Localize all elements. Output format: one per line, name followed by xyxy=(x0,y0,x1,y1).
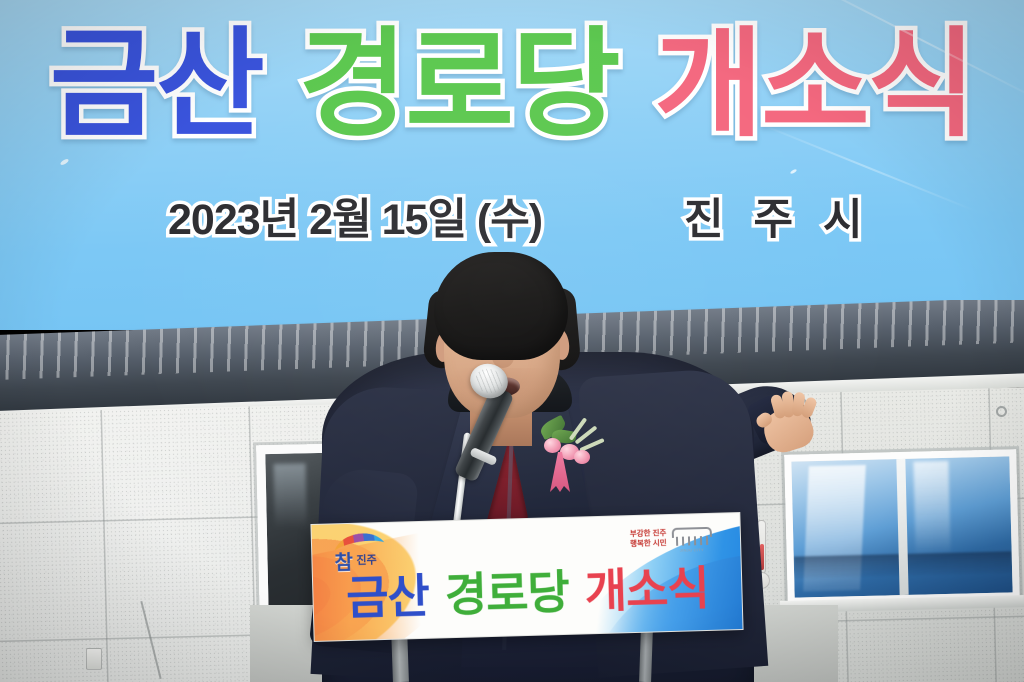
podium-stem xyxy=(639,628,653,682)
event-photo-scene: 금산 경로당 개소식 2023년 2월 15일 (수) 진 주 시 xyxy=(0,0,1024,682)
podium-title-word-2: 경로당 xyxy=(444,569,569,618)
emblem-slogan: 부강한 진주 행복한 시민 xyxy=(630,528,667,549)
emblem-caption: JINJU CITY xyxy=(672,547,712,553)
podium-sign: 참 진주 부강한 진주 행복한 시민 JINJU CITY 금산 경로당 xyxy=(310,512,743,642)
podium-sign-face: 참 진주 부강한 진주 행복한 시민 JINJU CITY 금산 경로당 xyxy=(310,512,743,642)
flower-corsage xyxy=(534,414,604,492)
podium-title-word-3: 개소식 xyxy=(584,565,709,614)
jinju-city-emblem: 부강한 진주 행복한 시민 JINJU CITY xyxy=(630,519,727,556)
emblem-mark-icon: JINJU CITY xyxy=(671,525,712,550)
emblem-columns xyxy=(676,536,708,546)
corsage-flower xyxy=(544,438,561,453)
emblem-slogan-line2: 행복한 시민 xyxy=(630,538,667,549)
podium-title-word-1: 금산 xyxy=(346,573,430,621)
podium-title: 금산 경로당 개소식 xyxy=(313,555,743,631)
hair xyxy=(434,252,568,360)
corsage-flower xyxy=(574,450,590,464)
